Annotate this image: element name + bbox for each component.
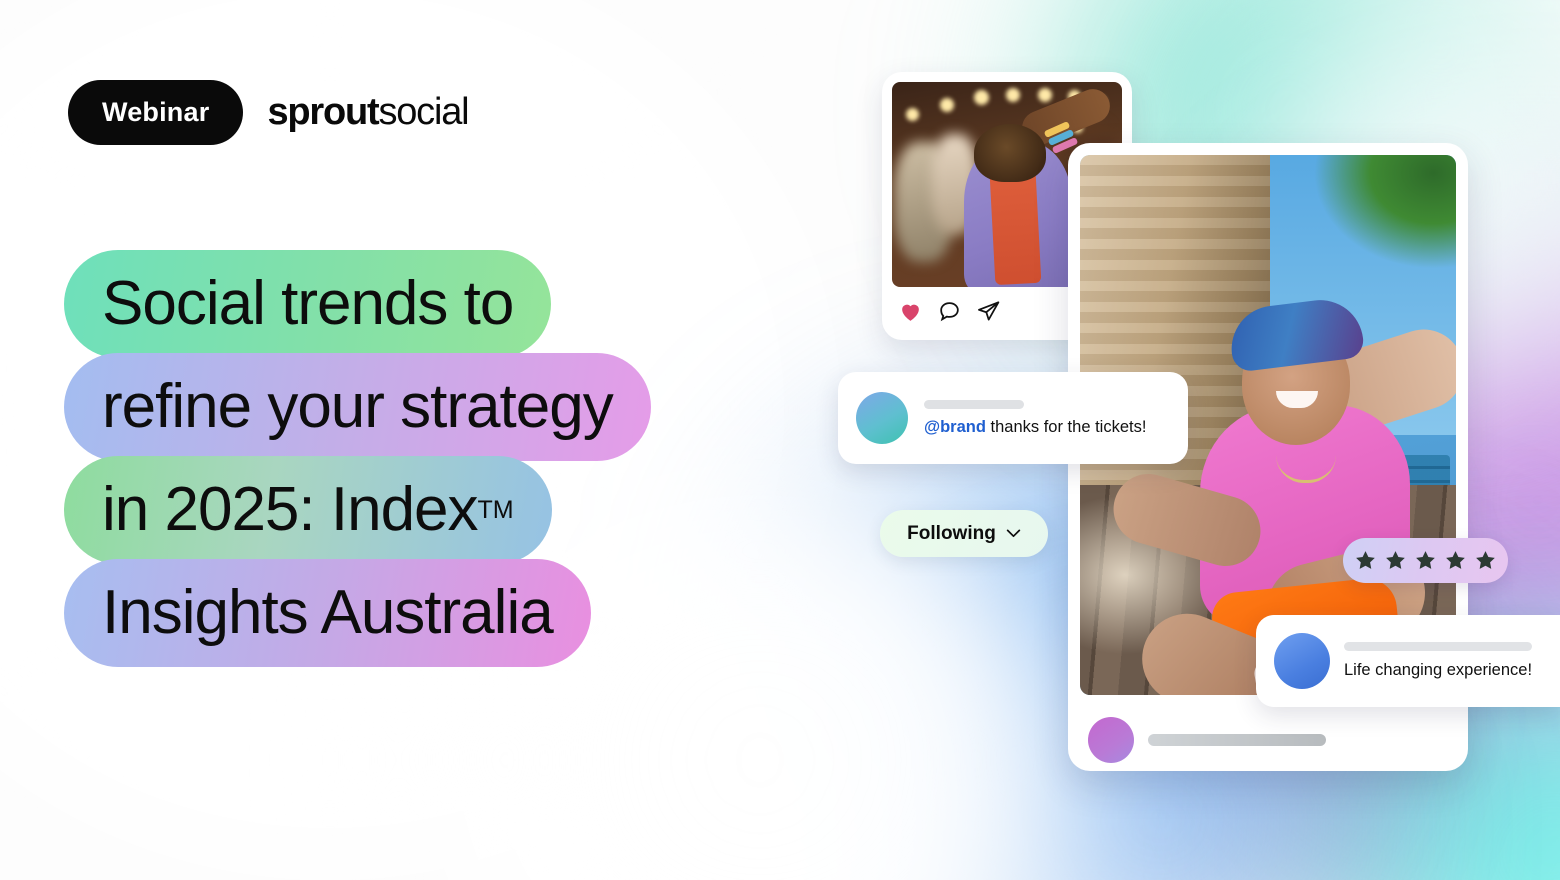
tree-foliage [1306, 155, 1456, 275]
send-icon[interactable] [976, 299, 1001, 324]
review-message: Life changing experience! [1344, 661, 1532, 680]
festival-hair [974, 124, 1046, 182]
comment-text: @brand thanks for the tickets! [924, 418, 1146, 437]
star-icon [1474, 549, 1497, 572]
chevron-down-icon [1006, 529, 1021, 538]
social-collage: @brand thanks for the tickets! Following… [820, 0, 1560, 880]
star-icon [1444, 549, 1467, 572]
review-body: Life changing experience! [1344, 642, 1532, 680]
headline-row-3: in 2025: IndexTM [64, 456, 651, 559]
headline-pill-4: Insights Australia [64, 559, 591, 667]
review-card[interactable]: Life changing experience! [1256, 615, 1560, 707]
headline-row-4: Insights Australia [64, 559, 651, 662]
heart-icon[interactable] [898, 299, 923, 324]
brand-bar: Webinar sproutsocial [68, 80, 468, 145]
headline-row-2: refine your strategy [64, 353, 651, 456]
headline-text-2: refine your strategy [102, 376, 613, 438]
following-label: Following [907, 523, 996, 545]
avatar [856, 392, 908, 444]
headline-text-1: Social trends to [102, 273, 513, 335]
avatar [1088, 717, 1134, 763]
webinar-badge-label: Webinar [102, 97, 209, 128]
page-title: Social trends to refine your strategy in… [64, 250, 651, 662]
star-icon [1414, 549, 1437, 572]
avatar [1274, 633, 1330, 689]
headline-pill-3: in 2025: IndexTM [64, 456, 552, 564]
comment-message: thanks for the tickets! [986, 418, 1147, 436]
headline-text-4: Insights Australia [102, 582, 553, 644]
following-button[interactable]: Following [880, 510, 1048, 557]
logo-social-text: social [378, 91, 468, 133]
placeholder-bar [924, 400, 1024, 409]
sprout-social-logo: sproutsocial [267, 91, 468, 134]
logo-sprout-text: sprout [267, 91, 378, 133]
webinar-badge: Webinar [68, 80, 243, 145]
placeholder-bar [1148, 734, 1326, 746]
headline-row-1: Social trends to [64, 250, 651, 353]
rating-badge [1343, 538, 1508, 583]
star-icon [1384, 549, 1407, 572]
left-content-panel: Webinar sproutsocial Social trends to re… [0, 0, 820, 880]
placeholder-bar [1344, 642, 1532, 651]
comment-body: @brand thanks for the tickets! [924, 400, 1146, 437]
headline-text-3: in 2025: Index [102, 479, 478, 541]
star-icon [1354, 549, 1377, 572]
comment-icon[interactable] [937, 299, 962, 324]
comment-card[interactable]: @brand thanks for the tickets! [838, 372, 1188, 464]
trademark-symbol: TM [478, 498, 514, 523]
headline-pill-2: refine your strategy [64, 353, 651, 461]
brand-handle[interactable]: @brand [924, 418, 986, 436]
headline-pill-1: Social trends to [64, 250, 551, 358]
